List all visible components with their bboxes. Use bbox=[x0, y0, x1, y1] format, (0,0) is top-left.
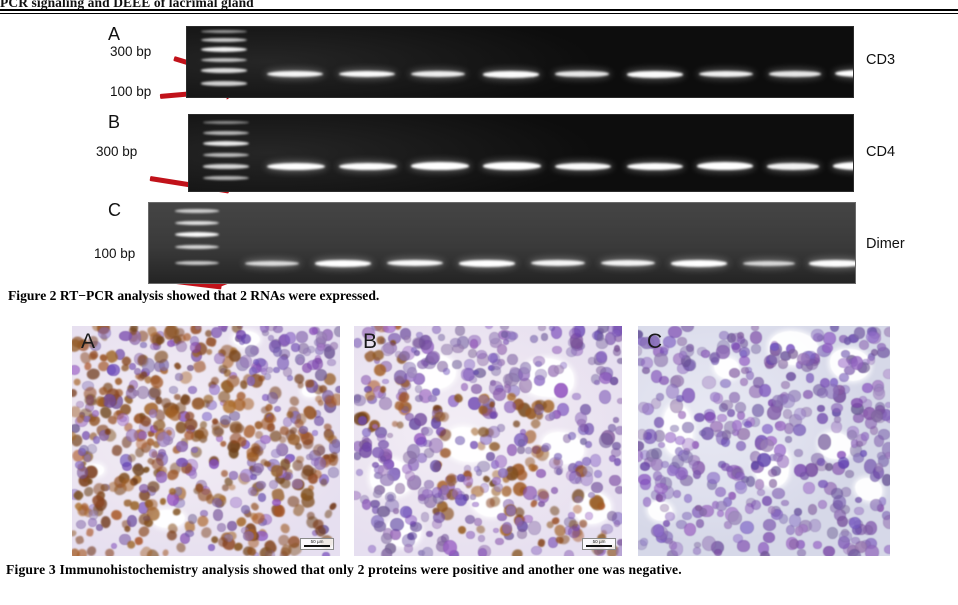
gel-panel-b: B 300 bp bbox=[0, 114, 958, 192]
gel-image-a bbox=[186, 26, 854, 98]
figure-2-caption: Figure 2 RT−PCR analysis showed that 2 R… bbox=[8, 288, 379, 304]
ihc-panel-c-letter: C bbox=[647, 330, 662, 354]
gel-bands-a bbox=[187, 27, 853, 97]
gel-panel-a-marker-300bp: 300 bp bbox=[110, 44, 151, 59]
gel-image-b bbox=[188, 114, 854, 192]
gel-bands-b bbox=[189, 115, 853, 191]
gel-panel-b-marker-300bp: 300 bp bbox=[96, 144, 137, 159]
gel-panel-c-marker-100bp: 100 bp bbox=[94, 246, 135, 261]
ihc-panel-a-letter: A bbox=[81, 330, 95, 354]
figure-3: A 50 µm B 50 µm C bbox=[72, 326, 890, 556]
ihc-panel-b: B 50 µm bbox=[354, 326, 622, 556]
gel-panel-b-letter: B bbox=[108, 112, 120, 133]
gel-panel-c: C 100 bp bbox=[0, 202, 958, 284]
gel-panel-c-gene-label: Dimer bbox=[866, 236, 905, 252]
gel-panel-a-letter: A bbox=[108, 24, 120, 45]
ihc-panel-c-cells bbox=[638, 326, 890, 556]
gel-panel-b-gene-label: CD4 bbox=[866, 144, 895, 160]
gel-image-c bbox=[148, 202, 856, 284]
ihc-panel-c: C bbox=[638, 326, 890, 556]
gel-panel-a-marker-100bp: 100 bp bbox=[110, 84, 151, 99]
ihc-panel-a-scale-bar: 50 µm bbox=[300, 538, 334, 550]
header-rule bbox=[0, 9, 958, 14]
article-figure-page: PCR signaling and DEEE of lacrimal gland… bbox=[0, 0, 958, 605]
ihc-panel-b-cells bbox=[354, 326, 622, 556]
figure-2: A 300 bp 100 bp bbox=[0, 18, 958, 288]
ihc-panel-a: A 50 µm bbox=[72, 326, 340, 556]
ihc-panel-b-letter: B bbox=[363, 330, 377, 354]
gel-panel-a-gene-label: CD3 bbox=[866, 52, 895, 68]
gel-panel-a: A 300 bp 100 bp bbox=[0, 26, 958, 104]
gel-panel-c-letter: C bbox=[108, 200, 121, 221]
figure-3-caption: Figure 3 Immunohistochemistry analysis s… bbox=[6, 562, 682, 578]
ihc-panel-a-cells bbox=[72, 326, 340, 556]
ihc-panel-b-scale-bar: 50 µm bbox=[582, 538, 616, 550]
gel-bands-c bbox=[149, 203, 855, 283]
